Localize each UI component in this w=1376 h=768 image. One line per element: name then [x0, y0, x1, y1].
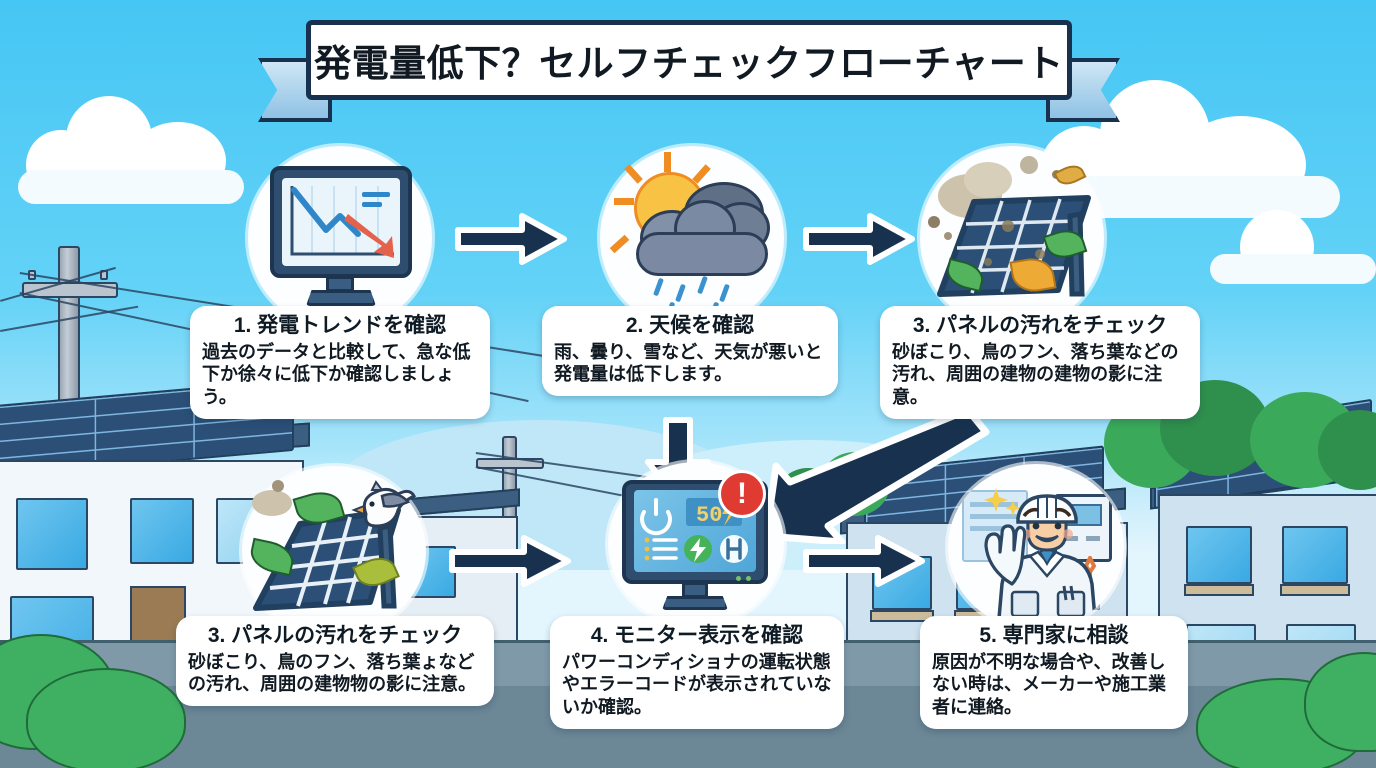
arrow-step2-to-step3 — [800, 206, 920, 272]
svg-text:50: 50 — [696, 503, 722, 528]
step-card-body: 砂ぼこり、鳥のフン、落ち葉ょなどの汚れ、周囲の建物物の影に注意。 — [188, 651, 482, 696]
sun-rain-cloud-icon — [600, 146, 784, 330]
bird-on-solar-panel-icon — [242, 466, 426, 636]
declining-chart-glyph — [282, 178, 400, 266]
step-card-title: 4. モニター表示を確認 — [562, 624, 832, 649]
step-card-title: 2. 天候を確認 — [554, 314, 826, 339]
line-chart-monitor-icon — [248, 146, 432, 330]
banner-plate: 発電量低下？セルフチェックフローチャート — [306, 20, 1072, 100]
alert-badge: ! — [718, 470, 766, 518]
step-card-title: 3. パネルの汚れをチェック — [188, 624, 482, 649]
step-card-body: 過去のデータと比較して、急な低下か徐々に低下か確認しましょう。 — [202, 341, 478, 409]
step-card-body: 砂ぼこり、鳥のフン、落ち葉などの汚れ、周囲の建物の建物の影に注意。 — [892, 341, 1188, 409]
technician-figure — [972, 488, 1112, 630]
title-banner: 発電量低下？セルフチェックフローチャート — [258, 20, 1120, 112]
step-card-title: 1. 発電トレンドを確認 — [202, 314, 478, 339]
step-card-3-bottom[interactable]: 3. パネルの汚れをチェック 砂ぼこり、鳥のフン、落ち葉ょなどの汚れ、周囲の建物… — [176, 616, 494, 706]
step-card-title: 3. パネルの汚れをチェック — [892, 314, 1188, 339]
step-card-1[interactable]: 1. 発電トレンドを確認 過去のデータと比較して、急な低下か徐々に低下か確認しま… — [190, 306, 490, 419]
arrow-step4-to-step5 — [800, 528, 930, 594]
arrow-step1-to-step2 — [452, 206, 572, 272]
step-card-2[interactable]: 2. 天候を確認 雨、曇り、雪など、天気が悪いと発電量は低下します。 — [542, 306, 838, 396]
cloud-base — [636, 232, 768, 276]
step-card-3-top[interactable]: 3. パネルの汚れをチェック 砂ぼこり、鳥のフン、落ち葉などの汚れ、周囲の建物の… — [880, 306, 1200, 419]
power-conditioner-monitor-icon: 50 ! — [608, 462, 784, 626]
infographic-canvas: 発電量低下？セルフチェックフローチャート — [0, 0, 1376, 768]
arrow-step3b-to-step4 — [446, 528, 576, 594]
step-card-body: パワーコンディショナの運転状態やエラーコードが表示されていないか確認。 — [562, 651, 832, 719]
bird-glyph — [338, 476, 418, 544]
step-card-body: 原因が不明な場合や、改善しない時は、メーカーや施工業者に連絡。 — [932, 651, 1176, 719]
step-card-body: 雨、曇り、雪など、天気が悪いと発電量は低下します。 — [554, 341, 826, 386]
step-card-5[interactable]: 5. 専門家に相談 原因が不明な場合や、改善しない時は、メーカーや施工業者に連絡… — [920, 616, 1188, 729]
step-card-4[interactable]: 4. モニター表示を確認 パワーコンディショナの運転状態やエラーコードが表示され… — [550, 616, 844, 729]
dirty-solar-panel-icon — [920, 146, 1104, 330]
step-card-title: 5. 専門家に相談 — [932, 624, 1176, 649]
page-title: 発電量低下？セルフチェックフローチャート — [314, 33, 1064, 87]
technician-waving-icon — [948, 464, 1124, 630]
